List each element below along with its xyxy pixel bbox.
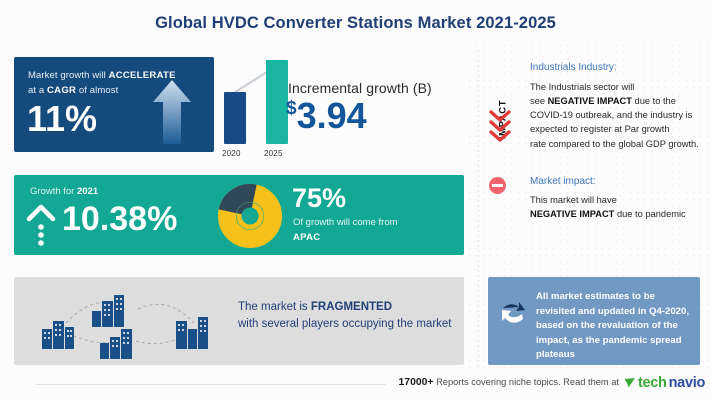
apac-percent-value: 75% [292,185,346,212]
up-arrow-icon [152,78,192,146]
fragmented-post: with several players occupying the marke… [238,318,452,330]
growth-value: 10.38% [62,202,177,236]
fragmented-panel: The market is FRAGMENTEDwith several pla… [14,277,464,365]
logo-text-tech: tech [638,375,667,391]
mi-body-line1: This market will have [530,195,617,205]
technavio-logo[interactable]: technavio [624,375,705,391]
market-impact-body: This market will have NEGATIVE IMPACT du… [530,193,708,222]
ind-body-line4: expected to register at Par growth [530,124,670,134]
bar-2020 [224,92,246,144]
growth-year: 2021 [77,186,98,197]
ind-body-line3: COVID-19 outbreak, and the industry is [530,110,692,120]
ind-negative-impact: NEGATIVE IMPACT [548,96,632,106]
footer-text: 17000+ Reports covering niche topics. Re… [399,377,619,388]
incremental-number: 3.94 [297,95,367,136]
cagr-value: 11% [27,101,97,137]
growth-panel: Growth for 2021 10.38% 75% Of growth wil… [14,175,464,255]
cagr-line2-pre: at a [28,85,47,96]
reports-count: 17000+ [399,377,434,388]
minus-bar [492,184,503,187]
up-chevron-dots-icon [26,203,56,247]
refresh-cycle-icon [498,299,528,329]
note-box: All market estimates to be revisited and… [488,277,700,365]
cagr-panel: Market growth will ACCELERATE at a CAGR … [14,57,214,152]
incremental-growth-label: Incremental growth (B) [288,80,432,96]
minus-circle-icon [489,177,506,194]
double-chevron-down-icon [488,108,512,142]
infographic-canvas: Global HVDC Converter Stations Market 20… [0,0,711,400]
incremental-growth-value: $3.94 [286,98,367,134]
market-impact-title: Market impact: [530,176,596,187]
page-title: Global HVDC Converter Stations Market 20… [0,14,711,33]
apac-caption-line1: Of growth will come from [293,217,398,228]
footer-divider [36,384,386,385]
ind-body-line5: rate compared to the global GDP growth. [530,139,699,149]
cagr-line-2: at a CAGR of almost [28,85,118,96]
logo-text-navio: navio [669,375,705,391]
apac-percent-caption: Of growth will come fromAPAC [293,217,398,245]
bar-label-2025: 2025 [264,149,283,158]
apac-donut-chart [218,184,282,248]
ind-body-line1: The Industrials sector will [530,82,634,92]
growth-label-pre: Growth for [30,186,77,197]
cagr-line2-post: of almost [76,85,118,96]
ind-body-line2-post: due to the [632,96,676,106]
mi-body-line2-post: due to pandemic [614,209,685,219]
buildings-network-icon [28,283,228,361]
footer-caption: Reports covering niche topics. Read them… [433,377,619,387]
fragmented-text: The market is FRAGMENTEDwith several pla… [238,299,453,332]
ind-body-line2-pre: see [530,96,548,106]
note-text: All market estimates to be revisited and… [536,290,692,363]
bar-2025 [266,60,288,144]
vertical-divider [478,50,479,368]
cagr-line1-pre: Market growth will [28,70,109,81]
fragmented-pre: The market is [238,301,311,313]
industrials-industry-title: Industrials Industry: [530,62,617,73]
technavio-arrow-icon [624,377,636,389]
bar-label-2020: 2020 [222,149,241,158]
industrials-industry-body: The Industrials sector will see NEGATIVE… [530,80,708,151]
cagr-word: CAGR [47,85,76,96]
apac-region: APAC [293,232,398,245]
currency-symbol: $ [286,98,297,119]
bar-chart: 2020 2025 [222,58,294,158]
growth-year-label: Growth for 2021 [30,186,98,197]
mi-negative-impact: NEGATIVE IMPACT [530,209,614,219]
fragmented-word: FRAGMENTED [311,301,392,313]
